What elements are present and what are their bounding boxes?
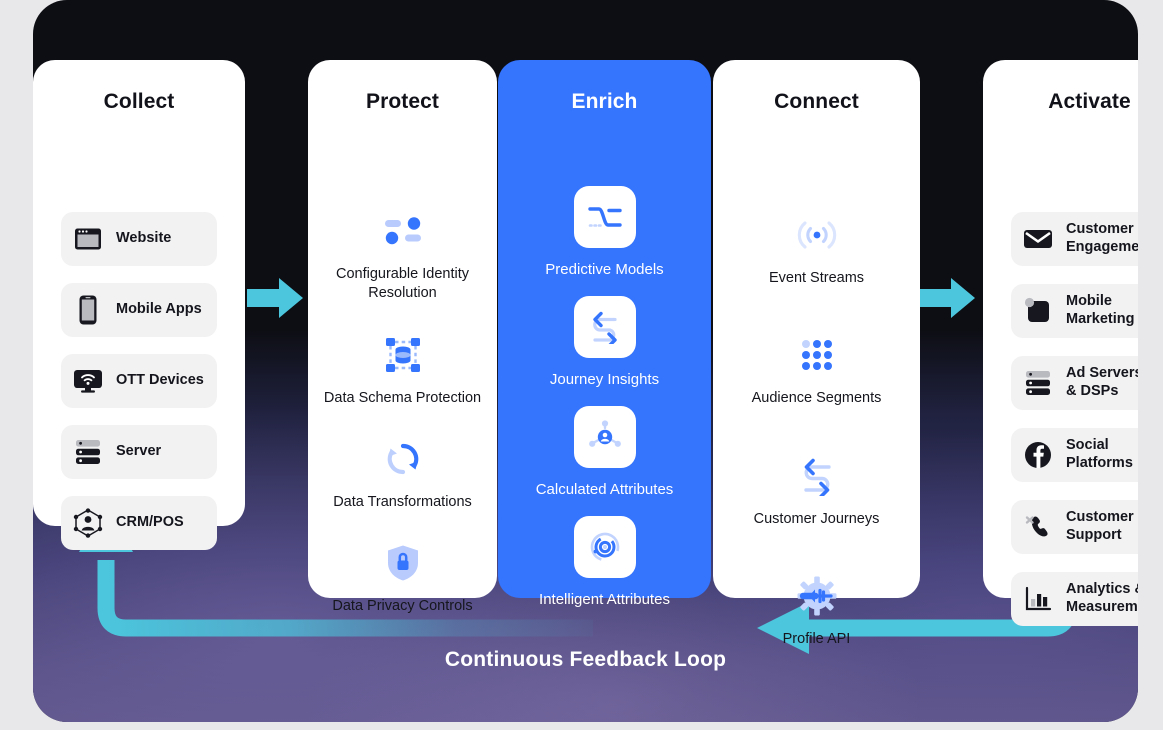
enrich-item-calculated-attributes[interactable]: Calculated Attributes <box>498 406 711 500</box>
arrow-collect-to-protect <box>247 276 303 320</box>
collect-item-label: Server <box>116 443 161 461</box>
feedback-loop-label: Continuous Feedback Loop <box>33 648 1138 672</box>
collect-item-label: Mobile Apps <box>116 301 202 319</box>
column-connect: Connect Event Streams <box>713 60 920 598</box>
column-enrich: Enrich Predictive Models <box>498 60 711 598</box>
diagram-stage: Continuous Feedback Loop Collect Webs <box>33 0 1138 722</box>
connect-item-label: Customer Journeys <box>754 510 880 529</box>
bar-chart-icon <box>1023 584 1053 614</box>
browser-window-icon <box>73 224 103 254</box>
collect-item-crm-pos[interactable]: CRM/POS <box>61 496 217 550</box>
connect-item-customer-journeys[interactable]: Customer Journeys <box>713 453 920 529</box>
connect-item-label: Profile API <box>783 630 851 649</box>
enrich-item-label: Intelligent Attributes <box>539 590 670 610</box>
refresh-cycle-icon <box>383 436 423 482</box>
envelope-icon <box>1023 224 1053 254</box>
activate-item-label: Social Platforms <box>1066 437 1138 472</box>
activate-item-label: Customer Support <box>1066 509 1138 544</box>
protect-item-label: Data Schema Protection <box>324 389 481 408</box>
activate-item-customer-support[interactable]: Customer Support <box>1011 500 1138 554</box>
protect-item-data-transformations[interactable]: Data Transformations <box>308 436 497 512</box>
collect-item-server[interactable]: Server <box>61 425 217 479</box>
connect-item-profile-api[interactable]: Profile API <box>713 573 920 649</box>
column-title-protect: Protect <box>308 90 497 114</box>
broadcast-signal-icon <box>795 212 839 258</box>
activate-item-label: Mobile Marketing <box>1066 293 1138 328</box>
column-title-activate: Activate <box>983 90 1138 114</box>
database-schema-icon <box>382 332 424 378</box>
collect-item-label: OTT Devices <box>116 372 204 390</box>
column-collect: Collect Website <box>33 60 245 526</box>
toggle-dots-icon <box>382 208 424 254</box>
arrow-connect-to-activate <box>919 276 975 320</box>
column-title-connect: Connect <box>713 90 920 114</box>
activate-item-label: Ad Servers & DSPs <box>1066 365 1138 400</box>
protect-item-data-privacy-controls[interactable]: Data Privacy Controls <box>308 540 497 616</box>
column-protect: Protect Configurable Identity Resolution <box>308 60 497 598</box>
column-title-collect: Collect <box>33 90 245 114</box>
collect-item-mobile-apps[interactable]: Mobile Apps <box>61 283 217 337</box>
protect-item-list: Configurable Identity Resolution <box>308 208 497 616</box>
activate-item-mobile-marketing[interactable]: Mobile Marketing <box>1011 284 1138 338</box>
user-node-icon <box>574 406 636 468</box>
activate-item-customer-engagement[interactable]: Customer Engagement <box>1011 212 1138 266</box>
collect-item-label: CRM/POS <box>116 514 184 532</box>
journey-arrows-icon <box>574 296 636 358</box>
enrich-item-predictive-models[interactable]: Predictive Models <box>498 186 711 280</box>
connect-item-audience-segments[interactable]: Audience Segments <box>713 332 920 408</box>
phone-support-icon <box>1023 512 1053 542</box>
enrich-item-journey-insights[interactable]: Journey Insights <box>498 296 711 390</box>
facebook-icon <box>1023 440 1053 470</box>
server-rack-icon <box>1023 368 1053 398</box>
connect-item-label: Audience Segments <box>752 389 882 408</box>
enrich-item-intelligent-attributes[interactable]: Intelligent Attributes <box>498 516 711 610</box>
protect-item-label: Data Privacy Controls <box>332 597 472 616</box>
activate-item-label: Analytics & Measurement <box>1066 581 1138 616</box>
collect-item-ott-devices[interactable]: OTT Devices <box>61 354 217 408</box>
collect-item-list: Website Mobile Apps <box>61 212 217 550</box>
tv-wifi-icon <box>73 366 103 396</box>
activate-item-social-platforms[interactable]: Social Platforms <box>1011 428 1138 482</box>
enrich-item-label: Journey Insights <box>550 370 659 390</box>
protect-item-label: Data Transformations <box>333 493 472 512</box>
enrich-item-label: Predictive Models <box>545 260 663 280</box>
mobile-push-icon <box>1023 296 1053 326</box>
server-rack-icon <box>73 437 103 467</box>
connect-item-list: Event Streams Audien <box>713 212 920 649</box>
column-activate: Activate Customer Engagement <box>983 60 1138 598</box>
protect-item-configurable-identity-resolution[interactable]: Configurable Identity Resolution <box>308 208 497 304</box>
journey-arrows-icon <box>797 453 837 499</box>
activate-item-analytics-measurement[interactable]: Analytics & Measurement <box>1011 572 1138 626</box>
connect-item-label: Event Streams <box>769 269 864 288</box>
customer-network-icon <box>73 508 103 538</box>
connect-item-event-streams[interactable]: Event Streams <box>713 212 920 288</box>
trend-curve-icon <box>574 186 636 248</box>
enrich-item-list: Predictive Models Journey Insights <box>498 186 711 610</box>
activate-item-list: Customer Engagement Mobile Marketing <box>1011 212 1138 626</box>
activate-item-ad-servers-dsps[interactable]: Ad Servers & DSPs <box>1011 356 1138 410</box>
gear-plug-icon <box>796 573 838 619</box>
orbit-spiral-icon <box>574 516 636 578</box>
smartphone-icon <box>73 295 103 325</box>
activate-item-label: Customer Engagement <box>1066 221 1138 256</box>
enrich-item-label: Calculated Attributes <box>536 480 674 500</box>
collect-item-label: Website <box>116 230 171 248</box>
protect-item-label: Configurable Identity Resolution <box>308 265 497 304</box>
shield-lock-icon <box>386 540 420 586</box>
protect-item-data-schema-protection[interactable]: Data Schema Protection <box>308 332 497 408</box>
column-title-enrich: Enrich <box>498 90 711 114</box>
dot-grid-icon <box>799 332 835 378</box>
collect-item-website[interactable]: Website <box>61 212 217 266</box>
